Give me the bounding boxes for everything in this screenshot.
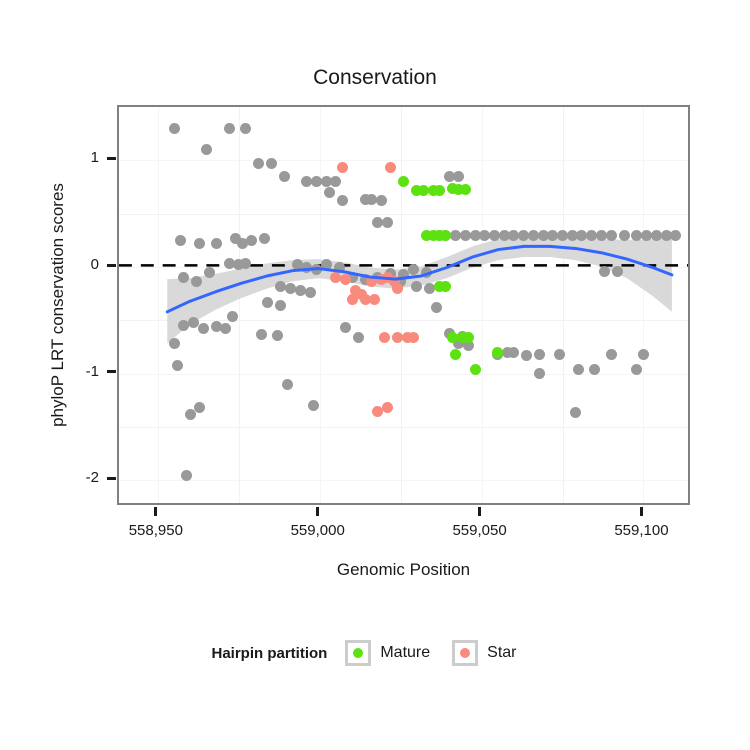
y-axis-title-wrap: phyloP LRT conservation scores — [46, 105, 70, 505]
plot-panel — [117, 105, 690, 505]
x-tick-label: 559,100 — [596, 522, 686, 539]
y-tick-mark — [107, 264, 116, 267]
y-tick-label: 0 — [59, 259, 99, 271]
legend: Hairpin partition Mature Star — [0, 640, 750, 666]
x-tick-label: 558,950 — [111, 522, 201, 539]
x-tick-mark — [316, 507, 319, 516]
legend-dot-star — [460, 648, 470, 658]
x-tick-label: 559,000 — [273, 522, 363, 539]
x-tick-mark — [640, 507, 643, 516]
chart-root: Conservation phyloP LRT conservation sco… — [0, 0, 750, 750]
y-tick-mark — [107, 157, 116, 160]
y-tick-mark — [107, 370, 116, 373]
page-title: Conservation — [0, 66, 750, 90]
y-tick-label: -2 — [59, 472, 99, 484]
y-tick-label: 1 — [59, 152, 99, 164]
legend-title: Hairpin partition — [212, 645, 328, 662]
trend-line — [119, 107, 688, 503]
legend-key-mature[interactable] — [345, 640, 371, 666]
y-tick-label: -1 — [59, 366, 99, 378]
legend-label-star: Star — [487, 644, 516, 662]
legend-label-mature: Mature — [380, 644, 430, 662]
x-tick-mark — [478, 507, 481, 516]
legend-key-star[interactable] — [452, 640, 478, 666]
x-axis-title: Genomic Position — [117, 560, 690, 580]
y-tick-mark — [107, 477, 116, 480]
x-tick-label: 559,050 — [435, 522, 525, 539]
x-tick-mark — [154, 507, 157, 516]
y-axis-title: phyloP LRT conservation scores — [46, 105, 70, 505]
legend-dot-mature — [353, 648, 363, 658]
